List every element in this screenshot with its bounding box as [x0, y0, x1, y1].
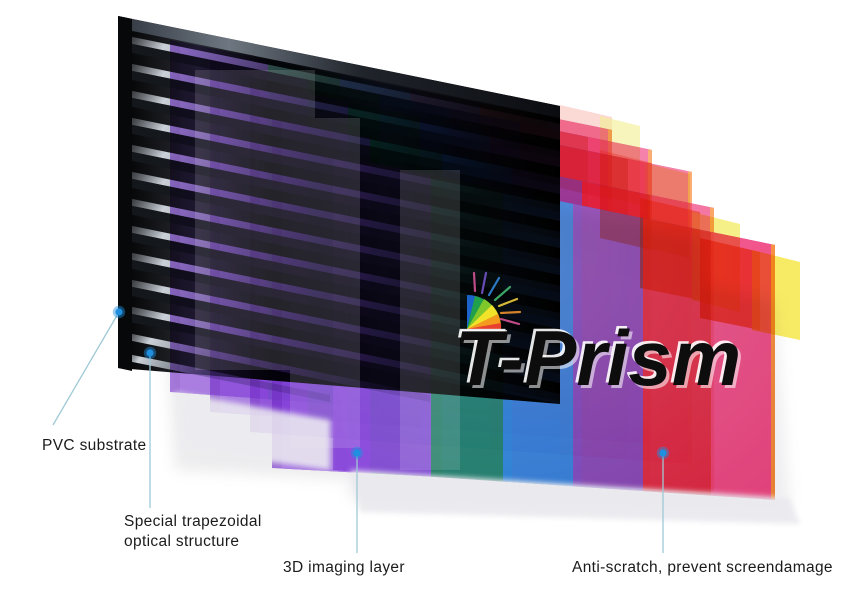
callout-label-optical-structure: Special trapezoidal optical structure [124, 512, 262, 552]
layer-diagram-canvas: T-Prism T-Prism T-Prism [0, 0, 864, 597]
callout-dot-imaging-layer[interactable] [351, 447, 363, 459]
wordmark-face: T-Prism [455, 314, 741, 402]
callout-label-imaging-layer: 3D imaging layer [283, 558, 405, 578]
callout-label-pvc-substrate: PVC substrate [42, 436, 146, 456]
callout-label-anti-scratch: Anti-scratch, prevent screendamage [572, 558, 833, 578]
callout-leader-pvc-substrate [53, 312, 119, 425]
callout-dot-anti-scratch[interactable] [657, 447, 669, 459]
callout-dot-optical-structure[interactable] [144, 347, 156, 359]
callout-dot-pvc-substrate[interactable] [113, 306, 125, 318]
brand-wordmark: T-Prism T-Prism T-Prism [453, 312, 745, 406]
exploded-layer-illustration: T-Prism T-Prism T-Prism [0, 0, 864, 597]
